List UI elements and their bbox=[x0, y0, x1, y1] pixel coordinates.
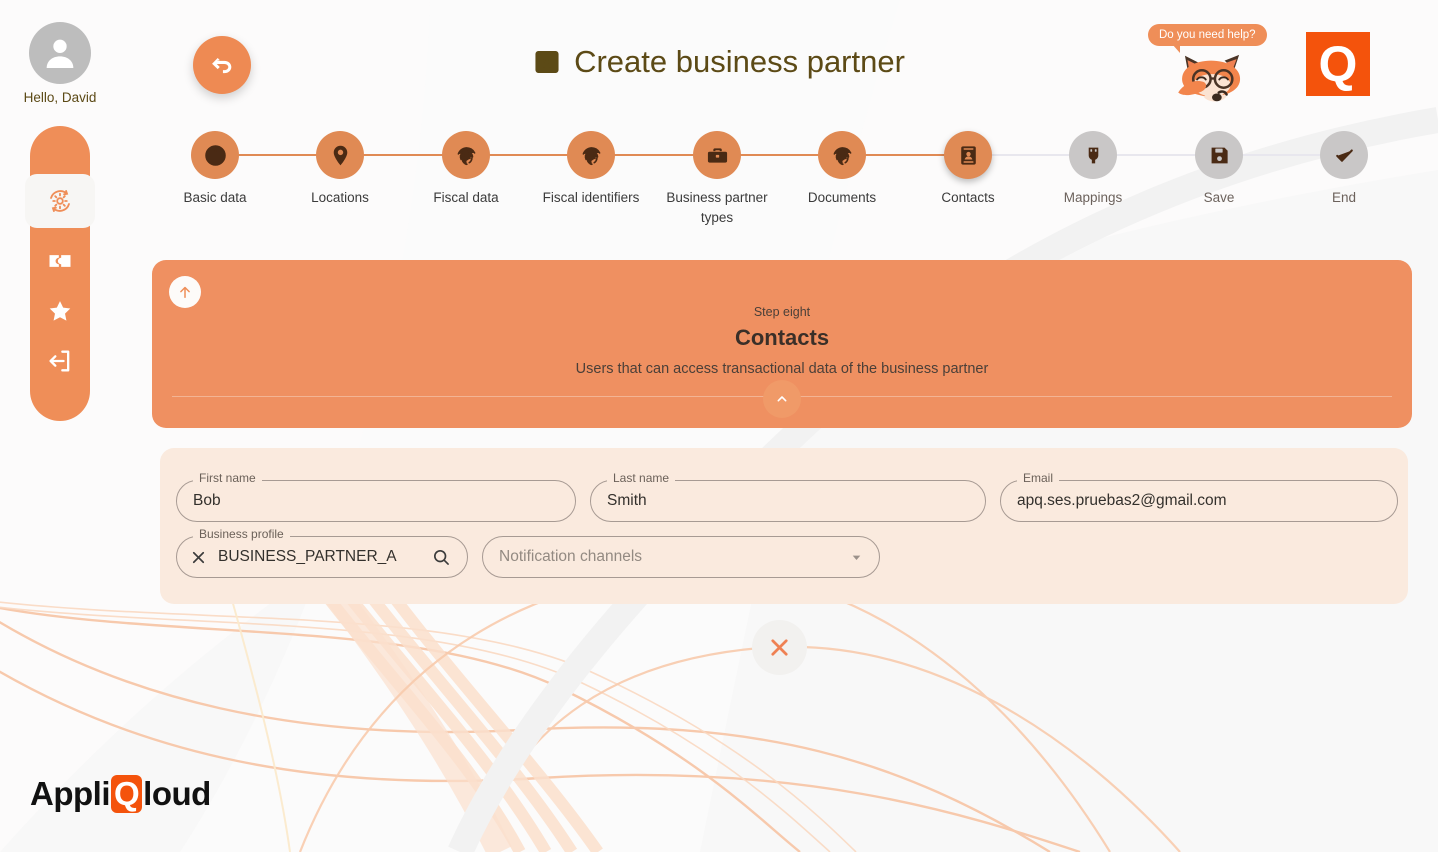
step-dot[interactable] bbox=[442, 131, 490, 179]
step-save[interactable]: Save bbox=[1159, 131, 1279, 208]
clear-business-profile-button[interactable] bbox=[189, 548, 208, 567]
location-pin-icon bbox=[328, 143, 353, 168]
star-icon bbox=[46, 297, 74, 325]
logout-icon bbox=[46, 347, 74, 375]
app-logo[interactable]: Q bbox=[1306, 32, 1370, 96]
last-name-value: Smith bbox=[607, 492, 647, 510]
step-banner: Step eight Contacts Users that can acces… bbox=[152, 260, 1412, 428]
undo-arrow-icon bbox=[208, 51, 236, 79]
app-logo-letter: Q bbox=[1319, 39, 1358, 89]
step-dot[interactable] bbox=[191, 131, 239, 179]
email-label: Email bbox=[1017, 472, 1059, 484]
back-button[interactable] bbox=[193, 36, 251, 94]
app-root: Hello, David bbox=[0, 0, 1438, 852]
step-label: Contacts bbox=[908, 188, 1028, 208]
step-dot[interactable] bbox=[1069, 131, 1117, 179]
first-name-value: Bob bbox=[193, 492, 221, 510]
help-assistant: Do you need help? bbox=[1148, 18, 1278, 108]
plug-icon bbox=[1081, 143, 1106, 168]
step-dot[interactable] bbox=[1195, 131, 1243, 179]
notification-channels-placeholder: Notification channels bbox=[499, 548, 642, 566]
step-locations[interactable]: Locations bbox=[280, 131, 400, 208]
briefcase-icon bbox=[705, 143, 730, 168]
first-name-label: First name bbox=[193, 472, 262, 484]
step-basic-data[interactable]: Basic data bbox=[155, 131, 275, 208]
fingerprint-icon bbox=[579, 143, 604, 168]
info-icon bbox=[203, 143, 228, 168]
step-label: Business partner types bbox=[657, 188, 777, 228]
first-name-field[interactable]: First name Bob bbox=[176, 480, 576, 522]
step-label: Fiscal identifiers bbox=[531, 188, 651, 208]
step-label: Locations bbox=[280, 188, 400, 208]
step-label: Fiscal data bbox=[406, 188, 526, 208]
step-dot[interactable] bbox=[567, 131, 615, 179]
process-gear-icon bbox=[46, 187, 74, 215]
sidebar-item-processes[interactable] bbox=[25, 174, 95, 228]
close-x-icon bbox=[189, 548, 208, 567]
step-business-partner-types[interactable]: Business partner types bbox=[657, 131, 777, 228]
email-value: apq.ses.pruebas2@gmail.com bbox=[1017, 492, 1227, 510]
last-name-field[interactable]: Last name Smith bbox=[590, 480, 986, 522]
step-mappings[interactable]: Mappings bbox=[1033, 131, 1153, 208]
step-label: Save bbox=[1159, 188, 1279, 208]
step-dot[interactable] bbox=[316, 131, 364, 179]
fingerprint-icon bbox=[830, 143, 855, 168]
step-dot[interactable] bbox=[818, 131, 866, 179]
business-profile-field[interactable]: Business profile BUSINESS_PARTNER_A bbox=[176, 536, 468, 578]
brand-post: loud bbox=[143, 775, 211, 813]
close-x-icon bbox=[766, 634, 793, 661]
chevron-up-icon bbox=[774, 391, 790, 407]
brand-pre: Appli bbox=[30, 775, 110, 813]
floppy-disk-icon bbox=[1207, 143, 1232, 168]
step-dot[interactable] bbox=[1320, 131, 1368, 179]
sidebar bbox=[30, 126, 90, 421]
form-row-1: First name Bob Last name Smith Email apq… bbox=[160, 480, 1408, 522]
business-profile-value: BUSINESS_PARTNER_A bbox=[218, 548, 397, 566]
contact-form-panel: First name Bob Last name Smith Email apq… bbox=[160, 448, 1408, 604]
search-icon bbox=[431, 547, 451, 567]
notification-channels-select[interactable]: Notification channels bbox=[482, 536, 880, 578]
fox-mascot-icon[interactable] bbox=[1174, 50, 1252, 108]
cancel-button[interactable] bbox=[752, 620, 807, 675]
step-kicker: Step eight bbox=[152, 305, 1412, 319]
contact-card-icon bbox=[956, 143, 981, 168]
last-name-label: Last name bbox=[607, 472, 675, 484]
email-field[interactable]: Email apq.ses.pruebas2@gmail.com bbox=[1000, 480, 1398, 522]
step-dot[interactable] bbox=[944, 131, 992, 179]
step-label: Documents bbox=[782, 188, 902, 208]
step-label: End bbox=[1284, 188, 1404, 208]
help-bubble[interactable]: Do you need help? bbox=[1148, 24, 1267, 46]
business-profile-label: Business profile bbox=[193, 528, 290, 540]
page-title-text: Create business partner bbox=[574, 44, 905, 80]
step-label: Mappings bbox=[1033, 188, 1153, 208]
sidebar-item-logout[interactable] bbox=[30, 336, 90, 386]
banner-content: Step eight Contacts Users that can acces… bbox=[152, 260, 1412, 377]
chevron-down-icon bbox=[850, 551, 863, 564]
form-row-2: Business profile BUSINESS_PARTNER_A Noti… bbox=[160, 536, 1408, 578]
check-icon bbox=[1332, 143, 1357, 168]
brand-logo: AppliQloud bbox=[30, 775, 211, 813]
step-label: Basic data bbox=[155, 188, 275, 208]
fingerprint-icon bbox=[454, 143, 479, 168]
sidebar-item-favorites[interactable] bbox=[30, 286, 90, 336]
brand-mark: Q bbox=[111, 775, 142, 813]
import-box-icon bbox=[533, 48, 561, 76]
stepper: Basic data Locations Fisc bbox=[152, 131, 1413, 236]
ticket-icon bbox=[46, 247, 74, 275]
greeting-text: Hello, David bbox=[18, 90, 102, 105]
scroll-up-button[interactable] bbox=[169, 276, 201, 308]
sidebar-item-dashboard[interactable] bbox=[30, 236, 90, 286]
step-dot[interactable] bbox=[693, 131, 741, 179]
search-business-profile-button[interactable] bbox=[431, 547, 451, 567]
step-subtitle: Users that can access transactional data… bbox=[152, 361, 1412, 377]
step-end[interactable]: End bbox=[1284, 131, 1404, 208]
step-heading: Contacts bbox=[152, 325, 1412, 351]
step-fiscal-identifiers[interactable]: Fiscal identifiers bbox=[531, 131, 651, 208]
notification-channels-caret[interactable] bbox=[850, 551, 863, 564]
step-contacts[interactable]: Contacts bbox=[908, 131, 1028, 208]
collapse-banner-button[interactable] bbox=[763, 380, 801, 418]
step-fiscal-data[interactable]: Fiscal data bbox=[406, 131, 526, 208]
arrow-up-icon bbox=[176, 283, 194, 301]
step-documents[interactable]: Documents bbox=[782, 131, 902, 208]
